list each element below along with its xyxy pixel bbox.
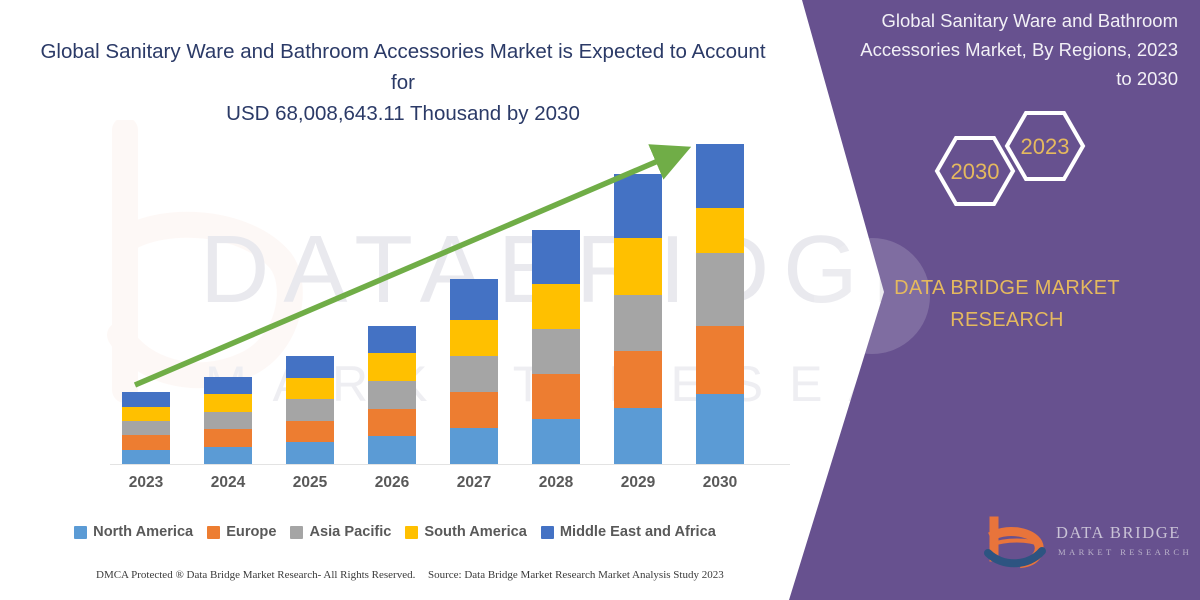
chart-bar-segment [450,320,498,356]
chart-bar [204,377,252,464]
legend-swatch-icon [290,526,303,539]
legend-item[interactable]: Middle East and Africa [541,524,716,540]
chart-bar-segment [204,412,252,429]
chart-bar-segment [286,378,334,400]
chart-bar-segment [614,174,662,239]
x-axis-tick-label: 2028 [526,474,586,492]
chart-bar-segment [614,295,662,351]
chart-bar-segment [614,408,662,464]
chart-bar-segment [204,447,252,464]
chart-bar-segment [368,353,416,381]
legend-label: Asia Pacific [309,524,391,540]
legend-item[interactable]: South America [405,524,526,540]
panel-brand-line1: DATA BRIDGE MARKET [842,272,1172,304]
hexagon-2023-label: 2023 [1021,134,1070,159]
chart-plot-area [110,120,770,465]
x-axis-tick-label: 2026 [362,474,422,492]
legend-swatch-icon [541,526,554,539]
x-axis-tick-label: 2027 [444,474,504,492]
chart-bar-segment [368,326,416,354]
chart-bar [368,326,416,464]
company-logo: DATA BRIDGE MARKET RESEARCH [980,515,1180,577]
page-title-line1: Global Sanitary Ware and Bathroom Access… [28,36,778,98]
chart-bar-segment [696,208,744,253]
footer: DMCA Protected ® Data Bridge Market Rese… [0,566,790,590]
chart-bar-segment [368,409,416,437]
legend-item[interactable]: Asia Pacific [290,524,391,540]
legend-item[interactable]: Europe [207,524,276,540]
chart-bar [696,144,744,464]
chart-bar-segment [122,435,170,449]
chart-bar-segment [122,421,170,435]
chart-bar-segment [450,428,498,464]
chart-bar [614,174,662,464]
x-axis-tick-label: 2029 [608,474,668,492]
chart-bar-segment [696,326,744,395]
legend-swatch-icon [405,526,418,539]
chart-bar-segment [286,356,334,378]
chart-bar-segment [204,429,252,446]
footer-copyright: DMCA Protected ® Data Bridge Market Rese… [96,569,415,581]
hexagon-badges: 2030 2023 [910,105,1110,230]
legend-label: Europe [226,524,276,540]
chart-bar-segment [614,238,662,294]
company-logo-title: DATA BRIDGE [1056,523,1181,543]
legend-label: South America [424,524,526,540]
footer-source: Source: Data Bridge Market Research Mark… [428,569,724,581]
chart-bar-segment [450,392,498,428]
chart-bar-segment [532,284,580,329]
company-logo-subtitle: MARKET RESEARCH [1058,547,1192,557]
chart-bar-segment [532,374,580,419]
chart-bar [532,230,580,464]
chart-bar-segment [532,329,580,374]
stacked-bar-chart [0,120,790,470]
legend-swatch-icon [207,526,220,539]
chart-bar-segment [122,450,170,464]
chart-bar-segment [450,356,498,392]
legend-label: North America [93,524,193,540]
panel-heading: Global Sanitary Ware and Bathroom Access… [830,6,1178,93]
chart-bar-segment [368,381,416,409]
chart-bar-segment [696,253,744,326]
panel-brand-name: DATA BRIDGE MARKET RESEARCH [842,272,1172,336]
panel-heading-line1: Global Sanitary Ware and Bathroom [830,6,1178,35]
chart-bar-segment [122,392,170,406]
chart-bar-segment [204,377,252,394]
chart-x-axis: 20232024202520262027202820292030 [110,474,770,496]
chart-bar-segment [696,144,744,208]
x-axis-tick-label: 2025 [280,474,340,492]
x-axis-tick-label: 2030 [690,474,750,492]
chart-legend: North AmericaEuropeAsia PacificSouth Ame… [0,524,790,540]
page-title: Global Sanitary Ware and Bathroom Access… [28,36,778,129]
legend-item[interactable]: North America [74,524,193,540]
chart-bar [122,392,170,464]
chart-bar-segment [286,421,334,443]
chart-bar-segment [122,407,170,421]
panel-heading-line3: to 2030 [830,64,1178,93]
chart-bar-segment [286,399,334,421]
chart-bar [450,279,498,464]
infographic-canvas: DATABRIDGE MARKET RESEARCH Global Sanita… [0,0,1200,600]
chart-bar-segment [696,394,744,464]
chart-bar-segment [204,394,252,411]
chart-bar-segment [532,419,580,464]
chart-bar-segment [368,436,416,464]
x-axis-tick-label: 2023 [116,474,176,492]
chart-bar-segment [286,442,334,464]
chart-bar-segment [450,279,498,320]
panel-brand-line2: RESEARCH [842,304,1172,336]
chart-bar-segment [614,351,662,407]
legend-label: Middle East and Africa [560,524,716,540]
chart-bar [286,356,334,464]
right-panel: Global Sanitary Ware and Bathroom Access… [790,0,1200,600]
legend-swatch-icon [74,526,87,539]
hexagon-2030-label: 2030 [951,159,1000,184]
chart-bar-segment [532,230,580,283]
chart-baseline [110,464,790,465]
x-axis-tick-label: 2024 [198,474,258,492]
panel-heading-line2: Accessories Market, By Regions, 2023 [830,35,1178,64]
